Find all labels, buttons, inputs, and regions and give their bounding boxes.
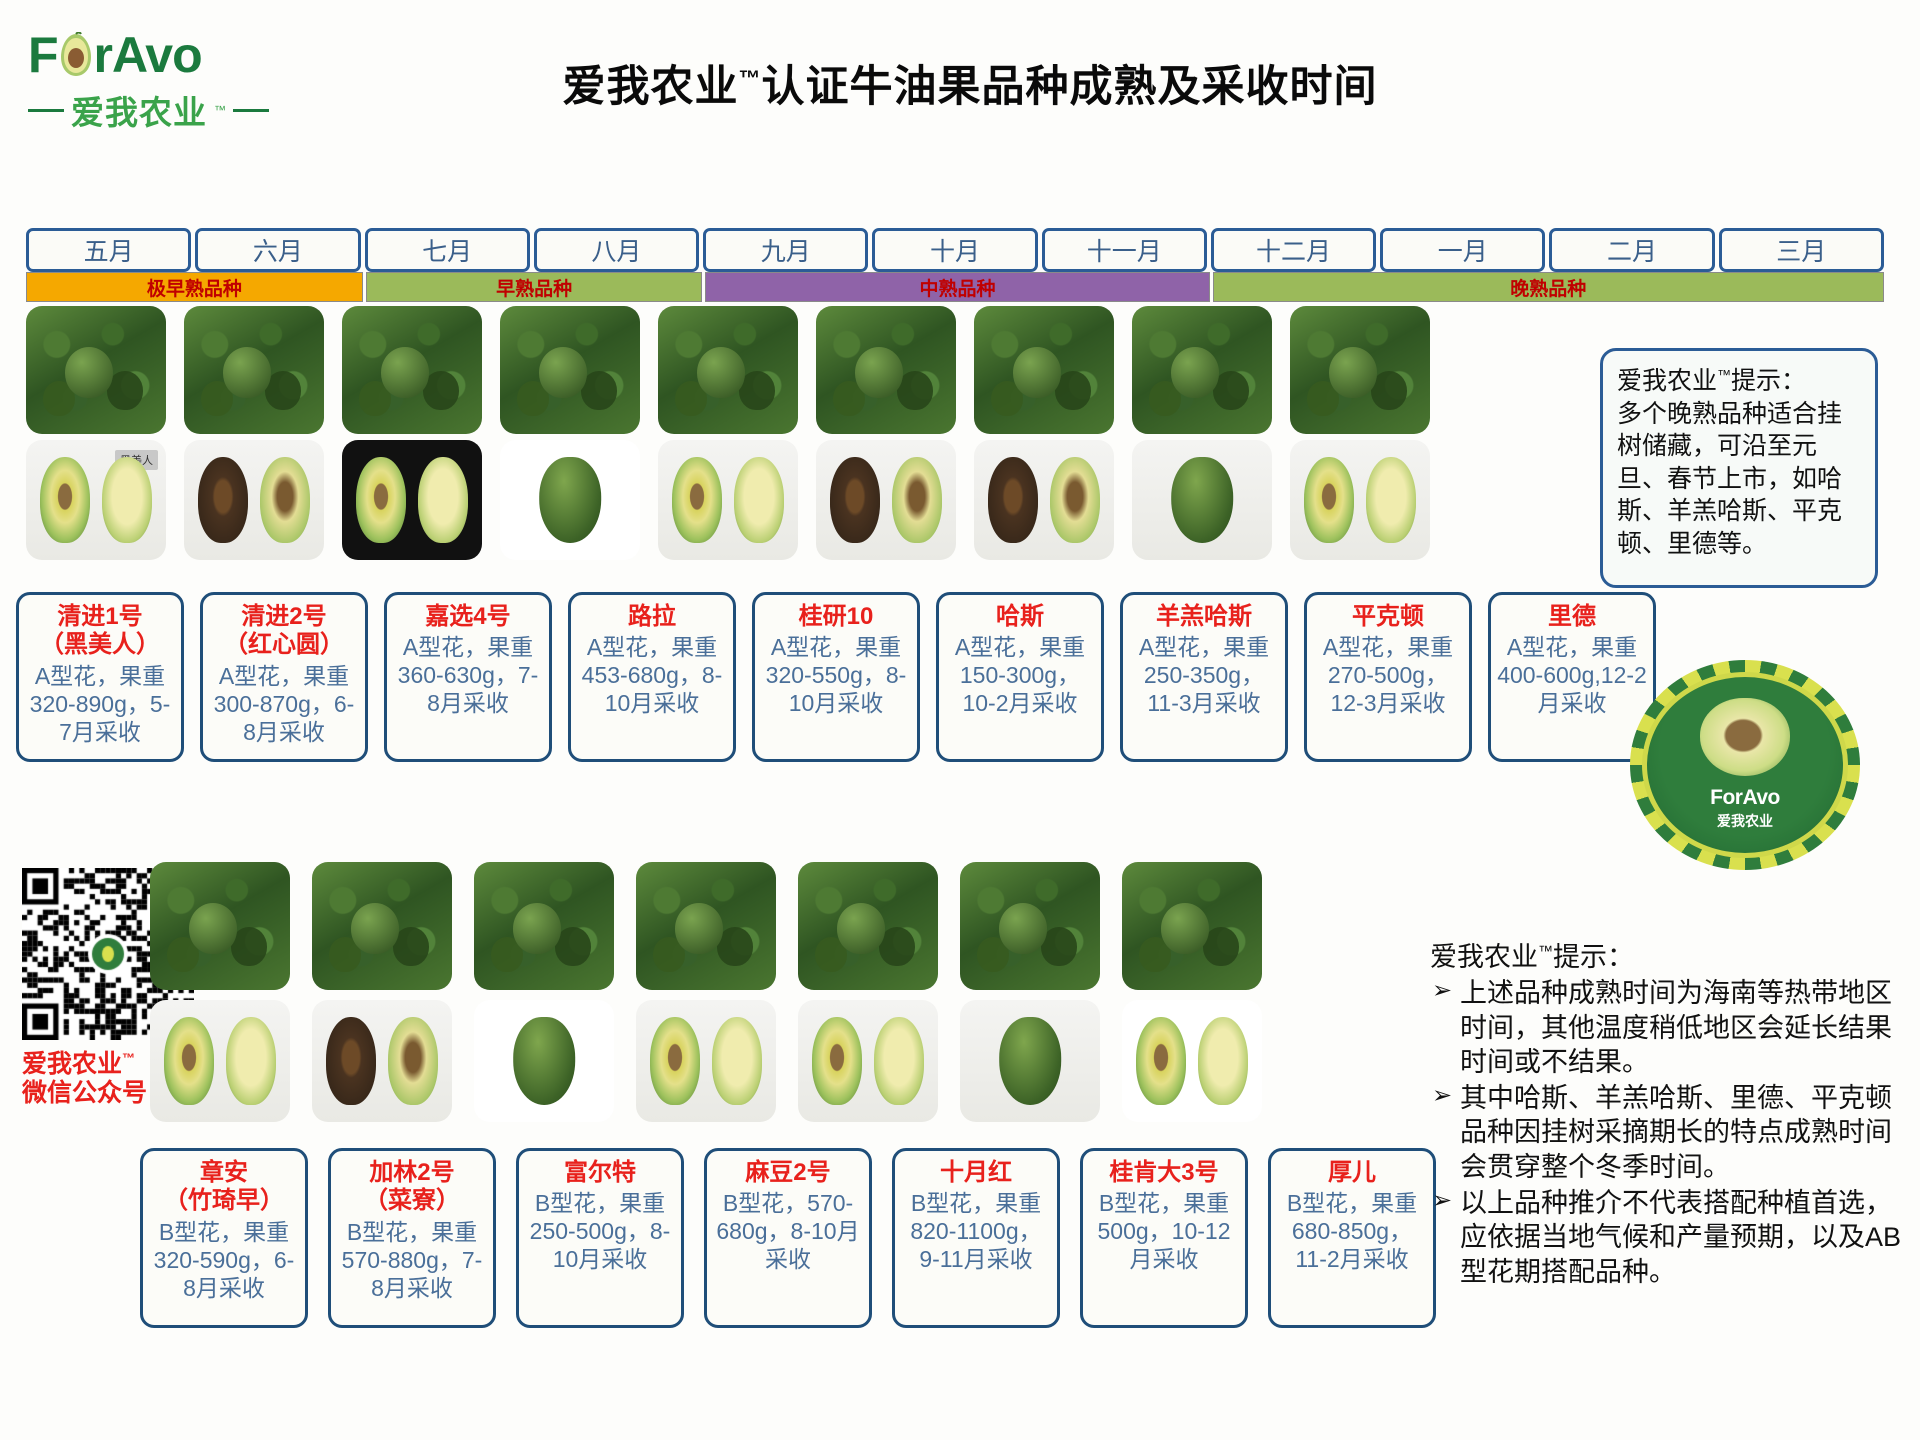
tips-bottom-head-1: 爱我农业 [1430, 942, 1538, 972]
variety-description: B型花，果重680-850g，11-2月采收 [1277, 1189, 1427, 1273]
qr-caption-1: 爱我农业 [22, 1050, 122, 1078]
cut-fruit-guikenda3 [960, 1000, 1100, 1122]
qr-caption-2: 微信公众号 [22, 1079, 147, 1107]
avocado-tree-photo-madou2 [636, 862, 776, 990]
tips-bottom-trademark-symbol: ™ [1538, 943, 1553, 960]
bullet-arrow-icon: ➢ [1432, 1081, 1452, 1111]
variety-description: B型花，果重250-500g，8-10月采收 [525, 1189, 675, 1273]
variety-description: A型花，果重300-870g，6-8月采收 [209, 662, 359, 746]
variety-card[interactable]: 清进1号 （黑美人）A型花，果重320-890g，5-7月采收 [16, 592, 184, 762]
logo-chinese-name: 爱我农业 [71, 86, 207, 134]
tips-bottom-heading: 爱我农业™提示： [1430, 940, 1906, 974]
foravo-brand-seal: ForAvo 爱我农业 [1630, 660, 1860, 870]
variety-card[interactable]: 麻豆2号B型花，570-680g，8-10月采收 [704, 1148, 872, 1328]
variety-name: 十月红 [901, 1159, 1051, 1187]
variety-name: 平克顿 [1313, 603, 1463, 631]
variety-card[interactable]: 哈斯A型花，果重150-300g，10-2月采收 [936, 592, 1104, 762]
variety-name: 加林2号 （菜寮） [337, 1159, 487, 1216]
title-trademark-symbol: ™ [739, 66, 762, 91]
month-cell: 八月 [534, 228, 699, 272]
tip-text: 其中哈斯、羊羔哈斯、里德、平克顿品种因挂树采摘期长的特点成熟时间会贯穿整个冬季时… [1460, 1083, 1892, 1182]
variety-description: B型花，果重320-590g，6-8月采收 [149, 1218, 299, 1302]
tip-box-late-varieties: 爱我农业™提示： 多个晚熟品种适合挂树储藏，可沿至元旦、春节上市，如哈斯、羊羔哈… [1600, 348, 1878, 588]
variety-card[interactable]: 嘉选4号A型花，果重360-630g，7-8月采收 [384, 592, 552, 762]
cut-fruit-reed [1290, 440, 1430, 560]
row-a-tree-photo-strip [26, 306, 1430, 434]
variety-description: A型花，果重400-600g,12-2月采收 [1497, 633, 1647, 717]
variety-name: 桂研10 [761, 603, 911, 631]
logo-trademark-symbol: ™ [214, 103, 226, 117]
season-band: 极早熟品种 [26, 272, 363, 302]
seal-inner-disc: ForAvo 爱我农业 [1642, 672, 1848, 858]
cut-fruit-pinkerton [1132, 440, 1272, 560]
variety-card[interactable]: 十月红B型花，果重820-1100g，9-11月采收 [892, 1148, 1060, 1328]
variety-description: A型花，果重320-550g，8-10月采收 [761, 633, 911, 717]
variety-name: 厚儿 [1277, 1159, 1427, 1187]
variety-name: 嘉选4号 [393, 603, 543, 631]
avocado-tree-photo-reed [1290, 306, 1430, 434]
variety-description: B型花，果重570-880g，7-8月采收 [337, 1218, 487, 1302]
variety-card[interactable]: 富尔特B型花，果重250-500g，8-10月采收 [516, 1148, 684, 1328]
month-cell: 九月 [703, 228, 868, 272]
variety-name: 里德 [1497, 603, 1647, 631]
cut-fruit-qingjin1: 黑美人 [26, 440, 166, 560]
seal-avocado-icon [1700, 698, 1790, 776]
cut-fruit-lula [500, 440, 640, 560]
variety-name: 麻豆2号 [713, 1159, 863, 1187]
page-title: 爱我农业™认证牛油果品种成熟及采收时间 [380, 52, 1560, 114]
avocado-tree-photo-qingjin1 [26, 306, 166, 434]
tip-text: 上述品种成熟时间为海南等热带地区时间，其他温度稍低地区会延长结果时间或不结果。 [1460, 978, 1892, 1077]
variety-description: B型花，570-680g，8-10月采收 [713, 1189, 863, 1273]
avocado-tree-photo-guikenda3 [960, 862, 1100, 990]
variety-name: 桂肯大3号 [1089, 1159, 1239, 1187]
tip-top-trademark-symbol: ™ [1717, 367, 1731, 383]
cut-fruit-zhangan [150, 1000, 290, 1122]
cut-fruit-jiaxuan4 [342, 440, 482, 560]
season-band: 中熟品种 [705, 272, 1209, 302]
cut-fruit-shiyuehong [798, 1000, 938, 1122]
title-part-2: 认证牛油果品种成熟及采收时间 [762, 63, 1378, 111]
month-cell: 十月 [872, 228, 1037, 272]
avocado-tree-photo-lula [500, 306, 640, 434]
month-cell: 五月 [26, 228, 191, 272]
cut-fruit-fuerte [474, 1000, 614, 1122]
avocado-tree-photo-fuerte [474, 862, 614, 990]
month-cell: 三月 [1719, 228, 1884, 272]
variety-description: B型花，果重500g，10-12月采收 [1089, 1189, 1239, 1273]
bullet-arrow-icon: ➢ [1432, 976, 1452, 1006]
row-a-fruit-photo-strip: 黑美人 [26, 440, 1430, 560]
variety-description: B型花，果重820-1100g，9-11月采收 [901, 1189, 1051, 1273]
variety-card[interactable]: 章安 （竹琦早）B型花，果重320-590g，6-8月采收 [140, 1148, 308, 1328]
variety-card[interactable]: 厚儿B型花，果重680-850g，11-2月采收 [1268, 1148, 1436, 1328]
variety-name: 路拉 [577, 603, 727, 631]
avocado-tree-photo-guiyan10 [658, 306, 798, 434]
row-a-variety-cards: 清进1号 （黑美人）A型花，果重320-890g，5-7月采收清进2号 （红心圆… [16, 592, 1656, 762]
bullet-arrow-icon: ➢ [1432, 1186, 1452, 1216]
avocado-tree-photo-houer [1122, 862, 1262, 990]
photo-caption-label: 黑美人 [115, 450, 158, 470]
row-b-variety-cards: 章安 （竹琦早）B型花，果重320-590g，6-8月采收加林2号 （菜寮）B型… [140, 1148, 1436, 1328]
month-cell: 十一月 [1042, 228, 1207, 272]
variety-card[interactable]: 清进2号 （红心圆）A型花，果重300-870g，6-8月采收 [200, 592, 368, 762]
cut-fruit-hass [816, 440, 956, 560]
avocado-tree-photo-jiaxuan4 [342, 306, 482, 434]
month-cell: 七月 [365, 228, 530, 272]
title-part-1: 爱我农业 [563, 63, 739, 111]
logo-letter-f: F [28, 30, 58, 80]
tip-top-body: 多个晚熟品种适合挂树储藏，可沿至元旦、春节上市，如哈斯、羊羔哈斯、平克顿、里德等… [1617, 400, 1842, 558]
infographic-page: F rAvo 爱我农业 ™ 爱我农业™认证牛油果品种成熟及采收时间 五月六月七月… [0, 0, 1920, 1440]
seal-chinese-name: 爱我农业 [1717, 811, 1773, 831]
avocado-tree-photo-shiyuehong [798, 862, 938, 990]
variety-description: A型花，果重453-680g，8-10月采收 [577, 633, 727, 717]
season-band: 早熟品种 [366, 272, 703, 302]
row-b-tree-photo-strip [150, 862, 1262, 990]
variety-card[interactable]: 加林2号 （菜寮）B型花，果重570-880g，7-8月采收 [328, 1148, 496, 1328]
variety-name: 羊羔哈斯 [1129, 603, 1279, 631]
variety-card[interactable]: 路拉A型花，果重453-680g，8-10月采收 [568, 592, 736, 762]
logo-wordmark: F rAvo [28, 30, 298, 80]
cut-fruit-yanggaohass [974, 440, 1114, 560]
variety-name: 清进1号 （黑美人） [25, 603, 175, 660]
variety-card[interactable]: 桂研10A型花，果重320-550g，8-10月采收 [752, 592, 920, 762]
logo-rule-right [233, 109, 269, 112]
avocado-tree-photo-qingjin2 [184, 306, 324, 434]
logo-rule-left [28, 109, 64, 112]
seal-wordmark: ForAvo [1710, 786, 1780, 810]
foravo-logo: F rAvo 爱我农业 ™ [28, 30, 298, 140]
variety-card[interactable]: 平克顿A型花，果重270-500g，12-3月采收 [1304, 592, 1472, 762]
logo-letters-ravo: rAvo [94, 30, 202, 80]
tip-text: 以上品种推介不代表搭配种植首选，应依据当地气候和产量预期，以及AB型花期搭配品种… [1460, 1188, 1901, 1287]
tip-list-item: ➢以上品种推介不代表搭配种植首选，应依据当地气候和产量预期，以及AB型花期搭配品… [1430, 1186, 1906, 1289]
cut-fruit-houer [1122, 1000, 1262, 1122]
cut-fruit-jialin2 [312, 1000, 452, 1122]
avocado-tree-photo-hass [816, 306, 956, 434]
variety-description: A型花，果重360-630g，7-8月采收 [393, 633, 543, 717]
variety-name: 富尔特 [525, 1159, 675, 1187]
variety-name: 章安 （竹琦早） [149, 1159, 299, 1216]
qr-trademark-symbol: ™ [122, 1051, 135, 1066]
maturity-season-bar: 极早熟品种早熟品种中熟品种晚熟品种 [26, 272, 1884, 302]
variety-description: A型花，果重250-350g，11-3月采收 [1129, 633, 1279, 717]
avocado-logo-icon [59, 32, 93, 78]
avocado-tree-photo-zhangan [150, 862, 290, 990]
month-cell: 一月 [1380, 228, 1545, 272]
row-b-fruit-photo-strip [150, 1000, 1262, 1122]
cut-fruit-qingjin2 [184, 440, 324, 560]
variety-description: A型花，果重150-300g，10-2月采收 [945, 633, 1095, 717]
tips-bottom-block: 爱我农业™提示： ➢上述品种成熟时间为海南等热带地区时间，其他温度稍低地区会延长… [1430, 940, 1906, 1291]
variety-card[interactable]: 羊羔哈斯A型花，果重250-350g，11-3月采收 [1120, 592, 1288, 762]
tip-top-head-1: 爱我农业 [1617, 367, 1717, 395]
cut-fruit-guiyan10 [658, 440, 798, 560]
tips-bottom-head-2: 提示： [1553, 942, 1634, 972]
variety-card[interactable]: 桂肯大3号B型花，果重500g，10-12月采收 [1080, 1148, 1248, 1328]
variety-name: 哈斯 [945, 603, 1095, 631]
avocado-tree-photo-yanggaohass [974, 306, 1114, 434]
season-band: 晚熟品种 [1213, 272, 1884, 302]
month-cell: 二月 [1549, 228, 1714, 272]
tips-bottom-list: ➢上述品种成熟时间为海南等热带地区时间，其他温度稍低地区会延长结果时间或不结果。… [1430, 976, 1906, 1289]
avocado-tree-photo-jialin2 [312, 862, 452, 990]
month-header-row: 五月六月七月八月九月十月十一月十二月一月二月三月 [26, 228, 1884, 272]
cut-fruit-madou2 [636, 1000, 776, 1122]
logo-chinese-lockup: 爱我农业 ™ [28, 86, 298, 134]
tip-list-item: ➢其中哈斯、羊羔哈斯、里德、平克顿品种因挂树采摘期长的特点成熟时间会贯穿整个冬季… [1430, 1081, 1906, 1184]
variety-description: A型花，果重270-500g，12-3月采收 [1313, 633, 1463, 717]
avocado-tree-photo-pinkerton [1132, 306, 1272, 434]
month-cell: 六月 [195, 228, 360, 272]
tip-top-head-2: 提示： [1731, 367, 1806, 395]
variety-description: A型花，果重320-890g，5-7月采收 [25, 662, 175, 746]
tip-list-item: ➢上述品种成熟时间为海南等热带地区时间，其他温度稍低地区会延长结果时间或不结果。 [1430, 976, 1906, 1079]
variety-name: 清进2号 （红心圆） [209, 603, 359, 660]
month-cell: 十二月 [1211, 228, 1376, 272]
